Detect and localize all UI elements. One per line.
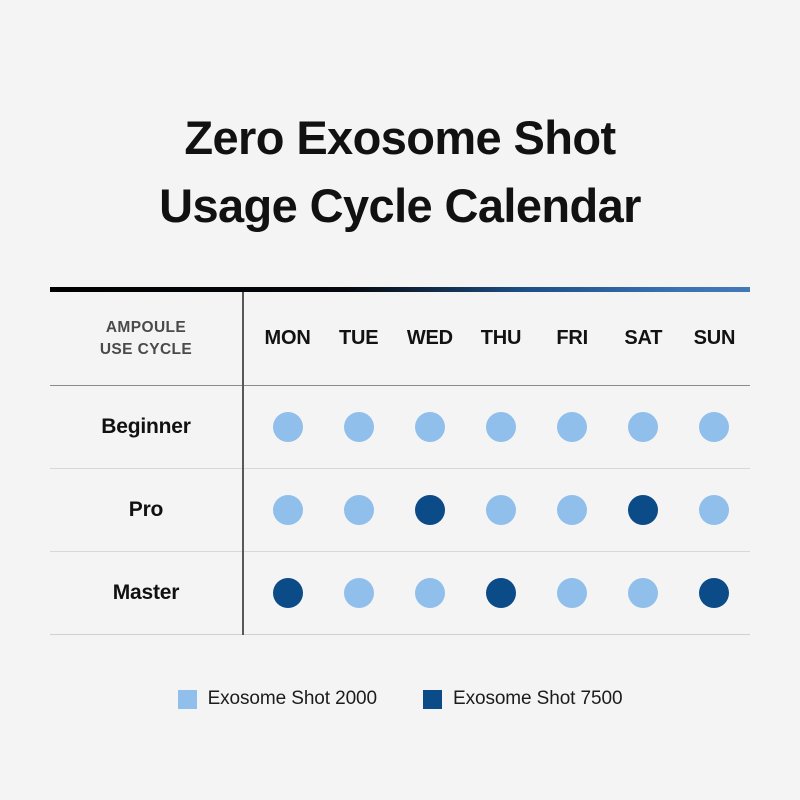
- cell-master-sat: [608, 578, 679, 608]
- cell-pro-fri: [537, 495, 608, 525]
- table-row: Master: [50, 552, 750, 635]
- corner-label-line-1: AMPOULE: [106, 317, 186, 339]
- dot-cells-pro: [242, 469, 750, 551]
- dot-dark: [273, 578, 303, 608]
- cell-pro-sat: [608, 495, 679, 525]
- dot-light: [699, 412, 729, 442]
- day-label: SUN: [694, 327, 736, 350]
- dot-light: [273, 495, 303, 525]
- dot-dark: [699, 578, 729, 608]
- cell-beginner-thu: [465, 412, 536, 442]
- dot-dark: [628, 495, 658, 525]
- tier-name: Beginner: [101, 415, 190, 439]
- day-header-sat: SAT: [608, 327, 679, 350]
- cell-master-tue: [323, 578, 394, 608]
- title-line-1: Zero Exosome Shot: [0, 104, 800, 172]
- day-label: FRI: [556, 327, 588, 350]
- cell-pro-tue: [323, 495, 394, 525]
- legend-label: Exosome Shot 2000: [208, 688, 377, 710]
- title-line-2: Usage Cycle Calendar: [0, 172, 800, 240]
- day-label: MON: [265, 327, 311, 350]
- dot-dark: [486, 578, 516, 608]
- cell-master-sun: [679, 578, 750, 608]
- tier-label-master: Master: [50, 552, 242, 634]
- cell-master-mon: [252, 578, 323, 608]
- day-label: TUE: [339, 327, 378, 350]
- cell-pro-wed: [394, 495, 465, 525]
- corner-label: AMPOULE USE CYCLE: [50, 292, 242, 385]
- cell-pro-thu: [465, 495, 536, 525]
- page-title: Zero Exosome Shot Usage Cycle Calendar: [0, 104, 800, 240]
- day-header-sun: SUN: [679, 327, 750, 350]
- day-header-thu: THU: [465, 327, 536, 350]
- legend-swatch-light-icon: [178, 690, 197, 709]
- cell-master-wed: [394, 578, 465, 608]
- tier-label-pro: Pro: [50, 469, 242, 551]
- dot-light: [557, 495, 587, 525]
- dot-light: [415, 412, 445, 442]
- table-row: Pro: [50, 469, 750, 552]
- dot-light: [486, 495, 516, 525]
- legend: Exosome Shot 2000 Exosome Shot 7500: [0, 688, 800, 710]
- day-header-tue: TUE: [323, 327, 394, 350]
- legend-item-2000: Exosome Shot 2000: [178, 688, 377, 710]
- corner-label-line-2: USE CYCLE: [100, 339, 192, 361]
- cell-master-fri: [537, 578, 608, 608]
- day-header-wed: WED: [394, 327, 465, 350]
- day-label: THU: [481, 327, 522, 350]
- day-label: SAT: [624, 327, 662, 350]
- table-row: Beginner: [50, 386, 750, 469]
- column-divider: [242, 292, 244, 635]
- dot-light: [557, 412, 587, 442]
- dot-light: [486, 412, 516, 442]
- dot-light: [628, 412, 658, 442]
- table-grid: AMPOULE USE CYCLE MON TUE WED THU FRI SA…: [50, 292, 750, 635]
- cell-beginner-wed: [394, 412, 465, 442]
- day-header-cells: MON TUE WED THU FRI SAT SUN: [242, 292, 750, 385]
- table-header-row: AMPOULE USE CYCLE MON TUE WED THU FRI SA…: [50, 292, 750, 386]
- tier-name: Pro: [129, 498, 163, 522]
- dot-light: [344, 412, 374, 442]
- usage-cycle-table: AMPOULE USE CYCLE MON TUE WED THU FRI SA…: [50, 287, 750, 635]
- day-header-fri: FRI: [537, 327, 608, 350]
- cell-beginner-mon: [252, 412, 323, 442]
- cell-pro-mon: [252, 495, 323, 525]
- dot-light: [557, 578, 587, 608]
- day-header-mon: MON: [252, 327, 323, 350]
- cell-beginner-sat: [608, 412, 679, 442]
- dot-light: [344, 495, 374, 525]
- dot-cells-master: [242, 552, 750, 634]
- dot-dark: [415, 495, 445, 525]
- dot-light: [344, 578, 374, 608]
- legend-swatch-dark-icon: [423, 690, 442, 709]
- cell-master-thu: [465, 578, 536, 608]
- day-label: WED: [407, 327, 453, 350]
- tier-label-beginner: Beginner: [50, 386, 242, 468]
- legend-label: Exosome Shot 7500: [453, 688, 622, 710]
- dot-light: [273, 412, 303, 442]
- cell-beginner-tue: [323, 412, 394, 442]
- cell-beginner-sun: [679, 412, 750, 442]
- cell-beginner-fri: [537, 412, 608, 442]
- legend-item-7500: Exosome Shot 7500: [423, 688, 622, 710]
- dot-light: [628, 578, 658, 608]
- dot-light: [699, 495, 729, 525]
- dot-light: [415, 578, 445, 608]
- cell-pro-sun: [679, 495, 750, 525]
- tier-name: Master: [113, 581, 180, 605]
- infographic-page: Zero Exosome Shot Usage Cycle Calendar A…: [0, 0, 800, 800]
- dot-cells-beginner: [242, 386, 750, 468]
